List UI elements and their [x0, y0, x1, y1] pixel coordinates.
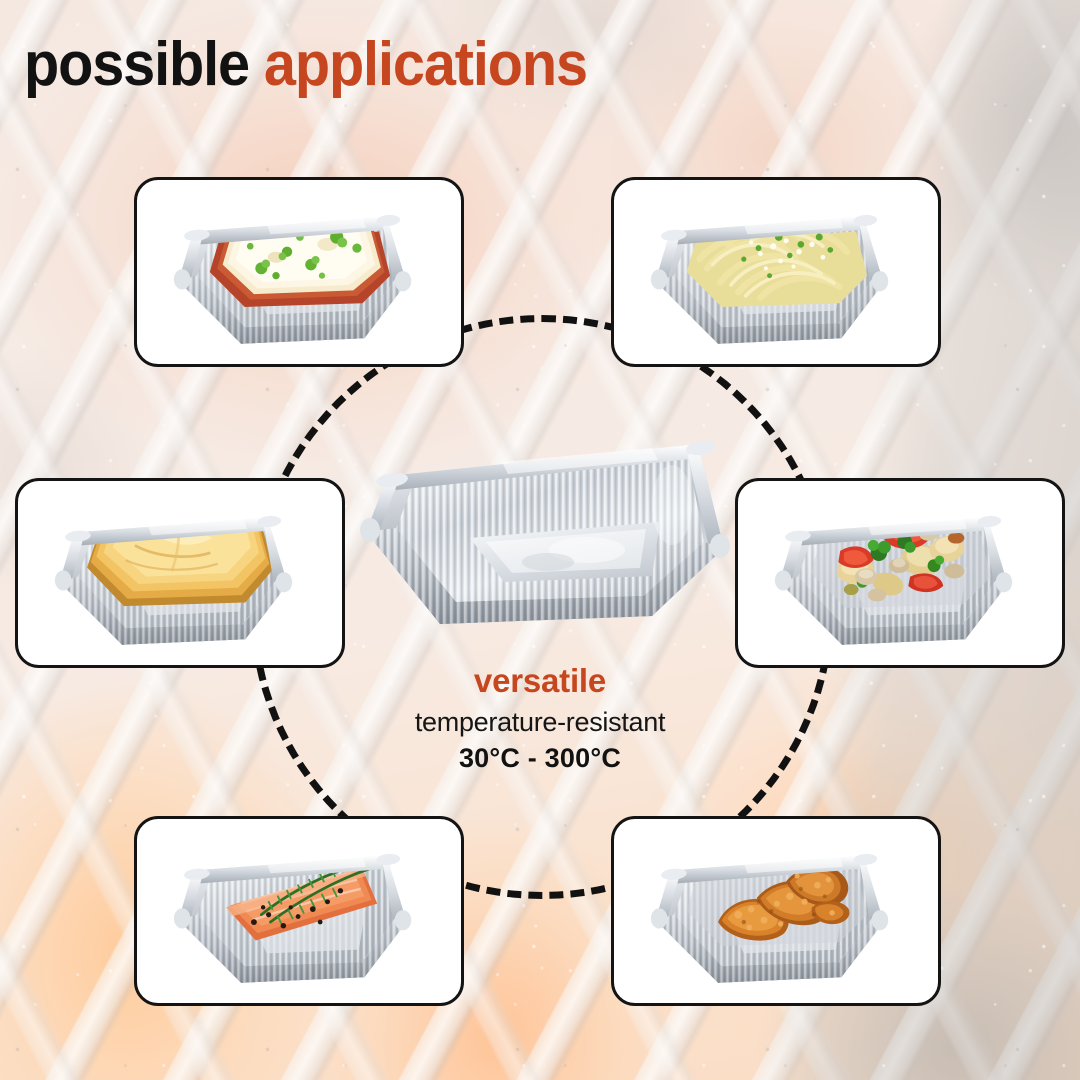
- page-title-accent-part: applications: [264, 30, 587, 99]
- food-tray-cake: [18, 481, 342, 665]
- center-headline: versatile: [0, 664, 1080, 697]
- center-text-block: versatile temperature-resistant 30°C - 3…: [0, 664, 1080, 772]
- application-card-pasta[interactable]: [611, 177, 941, 367]
- application-card-lasagna[interactable]: [134, 177, 464, 367]
- food-tray-chicken: [614, 819, 938, 1003]
- center-subtitle: temperature-resistant: [0, 709, 1080, 736]
- temperature-range: 30°C - 300°C: [0, 745, 1080, 772]
- food-tray-pasta: [614, 180, 938, 364]
- application-card-cake[interactable]: [15, 478, 345, 668]
- infographic-canvas: possible applications: [0, 0, 1080, 1080]
- food-tray-vegetables: [738, 481, 1062, 665]
- center-product-empty-tray: [352, 410, 734, 642]
- application-card-vegetables[interactable]: [735, 478, 1065, 668]
- food-tray-lasagna: [137, 180, 461, 364]
- page-title: possible applications: [24, 34, 587, 96]
- food-tray-salmon: [137, 819, 461, 1003]
- page-title-dark-part: possible: [24, 30, 249, 99]
- application-card-chicken[interactable]: [611, 816, 941, 1006]
- application-card-salmon[interactable]: [134, 816, 464, 1006]
